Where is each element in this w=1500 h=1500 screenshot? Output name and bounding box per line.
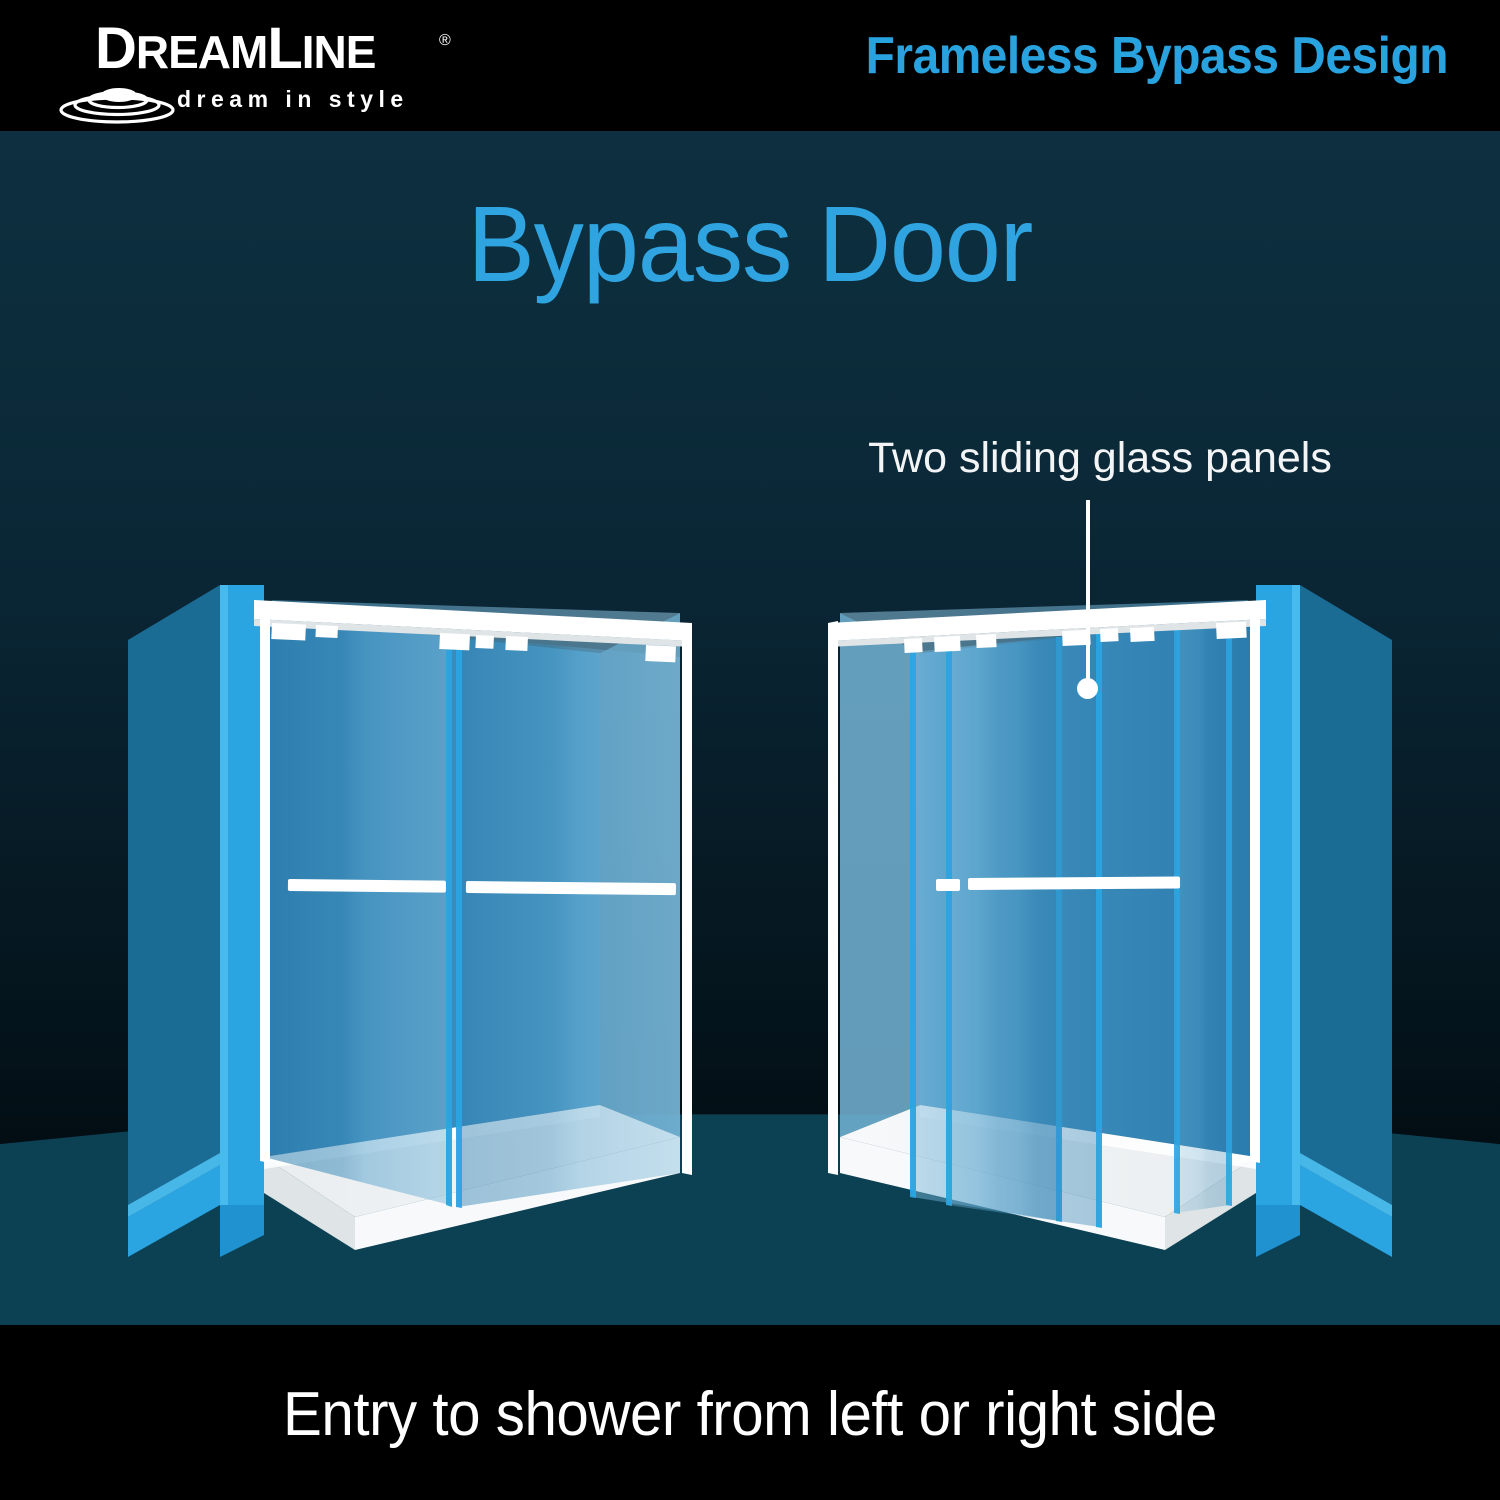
- header-headline: Frameless Bypass Design: [866, 26, 1448, 86]
- glass-panel-rear: [264, 617, 452, 1207]
- handle-bar-rear-panel: [968, 877, 1180, 890]
- callout-target-dot-icon: [1077, 678, 1098, 699]
- shower-enclosure-right: [800, 545, 1400, 1265]
- footer-caption: Entry to shower from left or right side: [45, 1379, 1455, 1450]
- left-jamb: [260, 605, 270, 1163]
- brand-tagline: dream in style: [177, 86, 409, 113]
- brand-letters-ine: INE: [302, 26, 376, 78]
- shower-enclosure-left: [120, 545, 720, 1265]
- handle-bar-front-panel: [466, 881, 676, 895]
- brand-letter-l: L: [267, 16, 301, 81]
- right-side-wall: [1300, 585, 1392, 1257]
- infographic-page: DREAMLINE ® dream in style Frameless Byp…: [0, 0, 1500, 1500]
- shower-enclosure-left-illustration: [120, 545, 720, 1265]
- page-title: Bypass Door: [53, 181, 1448, 306]
- right-jamb: [1250, 603, 1260, 1163]
- callout-leader-line: [1086, 500, 1090, 687]
- handle-bar-rear-panel: [288, 879, 446, 893]
- footer-bar: Entry to shower from left or right side: [0, 1325, 1500, 1500]
- brand-letters-ream: REAM: [136, 26, 267, 78]
- handle-bar-front-panel: [936, 879, 960, 891]
- right-front-post: [1256, 585, 1300, 1257]
- left-side-wall: [128, 585, 220, 1257]
- glass-panel-fixed: [1174, 621, 1232, 1214]
- glass-panel-front: [456, 636, 680, 1208]
- left-jamb: [828, 621, 838, 1175]
- header-bar: DREAMLINE ® dream in style Frameless Byp…: [0, 0, 1500, 131]
- right-jamb: [682, 623, 692, 1175]
- registered-trademark-icon: ®: [439, 32, 451, 50]
- shower-enclosure-right-illustration: [800, 545, 1400, 1265]
- brand-wordmark: DREAMLINE: [95, 20, 375, 78]
- brand-letter-d: D: [95, 16, 136, 81]
- callout-label: Two sliding glass panels: [790, 434, 1410, 483]
- brand-logo: DREAMLINE ® dream in style: [55, 18, 475, 118]
- left-front-post: [220, 585, 264, 1257]
- glass-panel-front: [946, 633, 1102, 1228]
- left-inner-wall: [840, 613, 920, 1137]
